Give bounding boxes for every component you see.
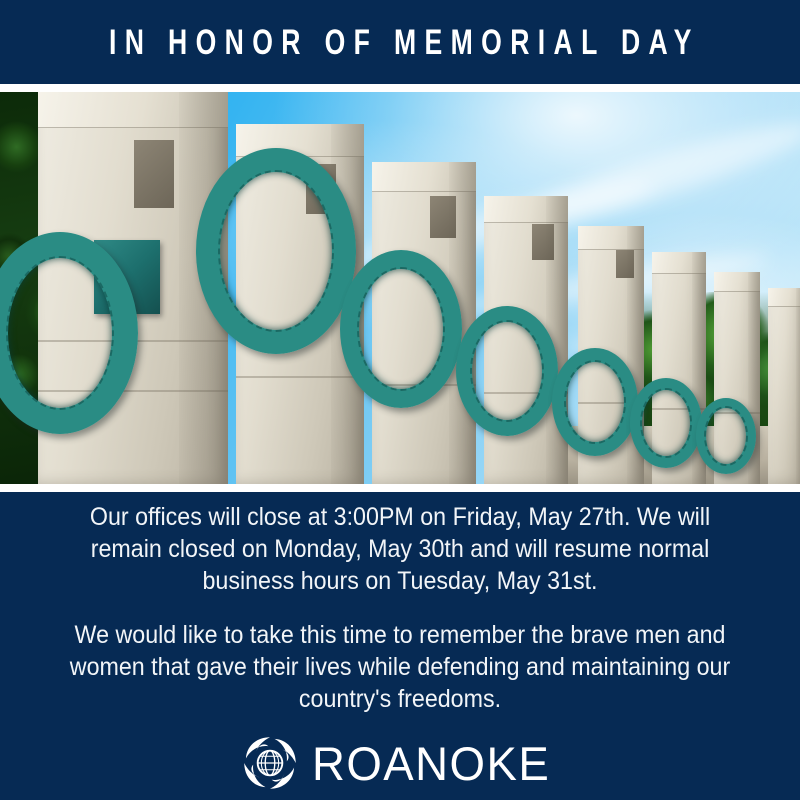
memorial-photo: [0, 92, 800, 484]
bronze-wreath: [340, 250, 462, 408]
divider-top: [0, 84, 800, 92]
page-title: IN HONOR OF MEMORIAL DAY: [100, 25, 699, 60]
company-logo: ROANOKE: [0, 726, 800, 800]
bronze-wreath: [456, 306, 558, 436]
logo-wordmark: ROANOKE: [312, 740, 550, 787]
bronze-wreath: [630, 378, 702, 468]
remembrance-paragraph: We would like to take this time to remem…: [61, 619, 740, 715]
announcement-body: Our offices will close at 3:00PM on Frid…: [0, 492, 800, 724]
globe-swirl-icon: [242, 735, 298, 791]
header-band: IN HONOR OF MEMORIAL DAY: [0, 0, 800, 84]
bronze-wreath: [196, 148, 356, 354]
pillar-shadow: [796, 288, 800, 484]
bronze-wreath: [552, 348, 638, 456]
pillar-niche: [134, 140, 174, 208]
memorial-day-announcement-poster: IN HONOR OF MEMORIAL DAY: [0, 0, 800, 800]
memorial-pillar: [768, 288, 800, 484]
divider-bottom: [0, 484, 800, 492]
bronze-wreath: [696, 398, 756, 474]
closure-notice-paragraph: Our offices will close at 3:00PM on Frid…: [61, 501, 740, 597]
